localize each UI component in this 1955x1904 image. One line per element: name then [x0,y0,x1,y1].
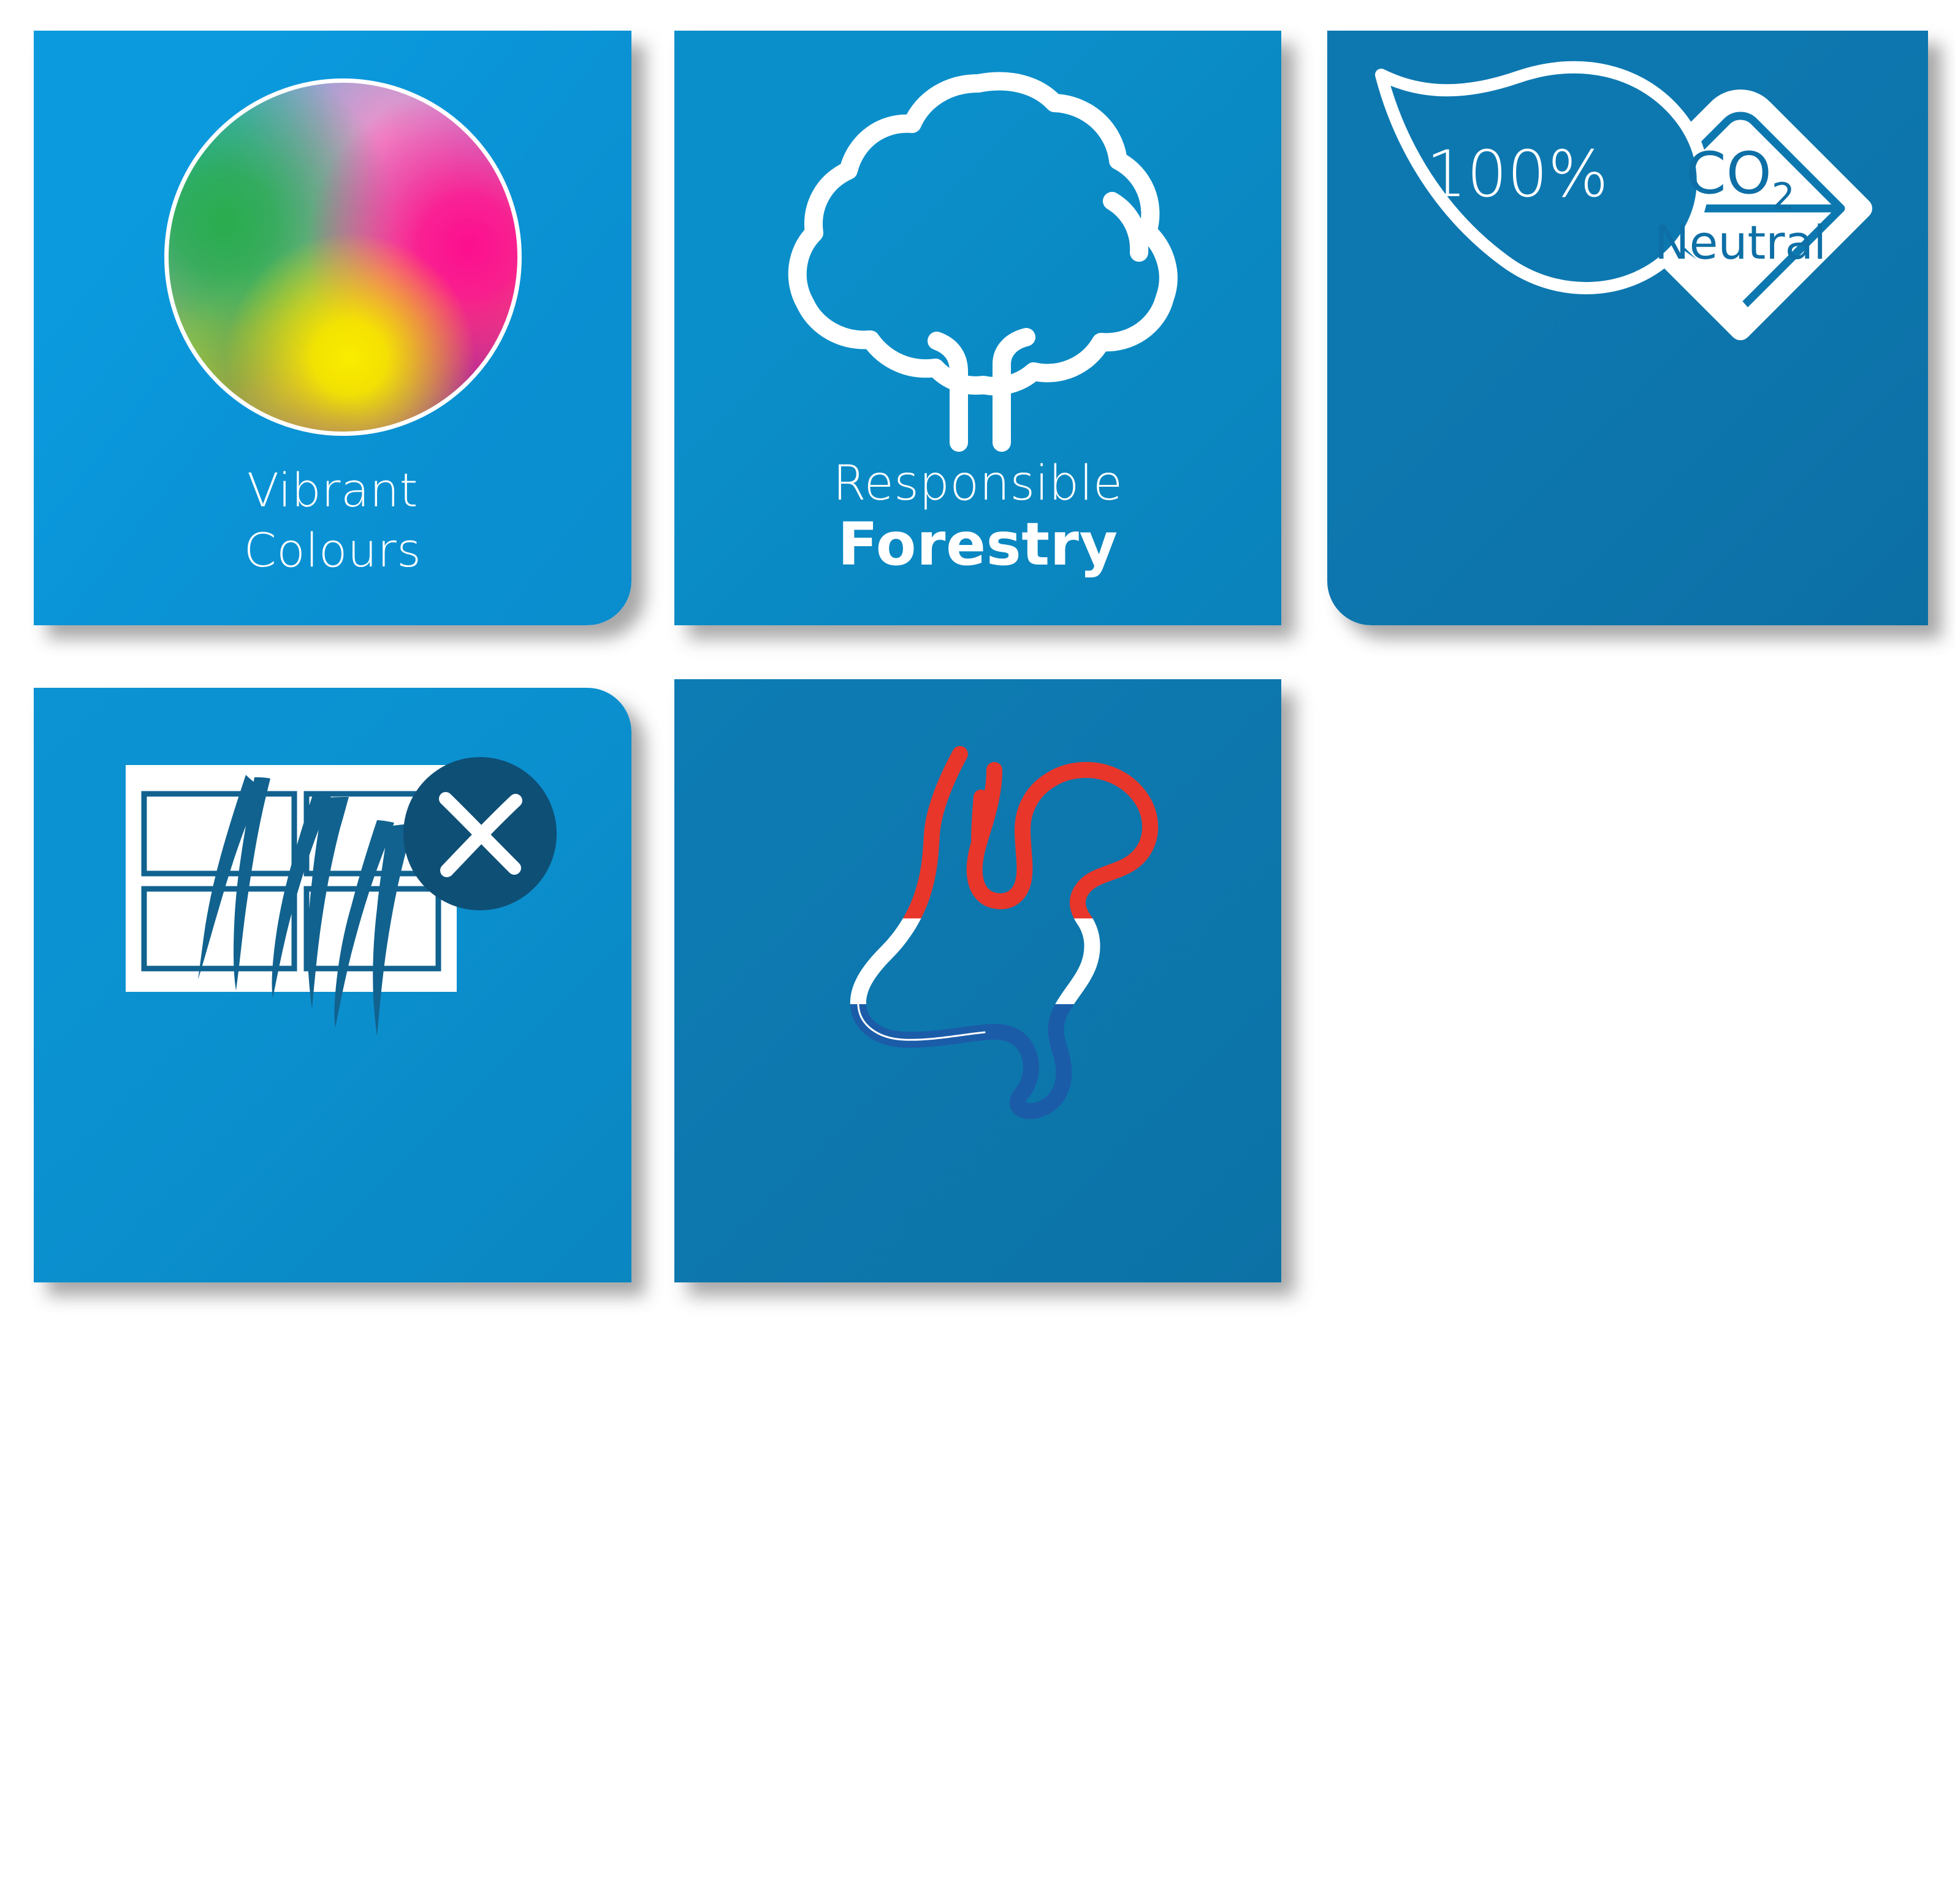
colour-sphere-gradient [164,78,522,436]
tile-label-group: Scratch Resistant Print [34,1669,631,1826]
no-scratch-badge [403,757,557,910]
tile-dutch-made[interactable]: Dutch-made Premium quality [674,679,1281,1282]
tile-label-line-2: Premium quality [674,1871,1281,1902]
tree-icon [783,67,1176,454]
netherlands-inner-mark [978,797,981,840]
scratched-panel-icon [34,673,631,1065]
tile-vibrant-colours[interactable]: Vibrant Colours [34,31,631,625]
tile-label-line-2: Colours [34,527,631,574]
tile-label-line-1: Scratch [34,1669,631,1710]
tile-label-line-2: Forestry [674,515,1281,574]
tile-label-line-1: Vibrant [34,467,631,514]
tile-label-line-1: Dutch-made [674,1812,1281,1856]
tile-label-line-3: Print [34,1772,631,1826]
tile-scratch-resistant-print[interactable]: Scratch Resistant Print [34,688,631,1282]
tile-label-group: Responsible Forestry [674,460,1281,574]
tile-label-group: Dutch-made Premium quality [674,1812,1281,1902]
tile-label-group: Vibrant Colours [34,467,631,574]
leaf-percent-label: 100% [1426,137,1608,211]
neutral-label: Neutral [1655,215,1827,270]
tile-co2-neutral[interactable]: 100% CO2 Neutral [1327,31,1928,625]
tile-label-line-2: Resistant [34,1721,631,1763]
tile-label-line-1: Responsible [674,460,1281,508]
co2-neutral-leaf-icon: 100% CO2 Neutral [1333,43,1916,331]
colour-sphere-icon [164,78,522,436]
tile-responsible-forestry[interactable]: Responsible Forestry [674,31,1281,625]
feature-badge-grid: Vibrant Colours [0,0,1955,1308]
netherlands-outline [858,754,1150,1111]
netherlands-map-icon [779,704,1195,1108]
